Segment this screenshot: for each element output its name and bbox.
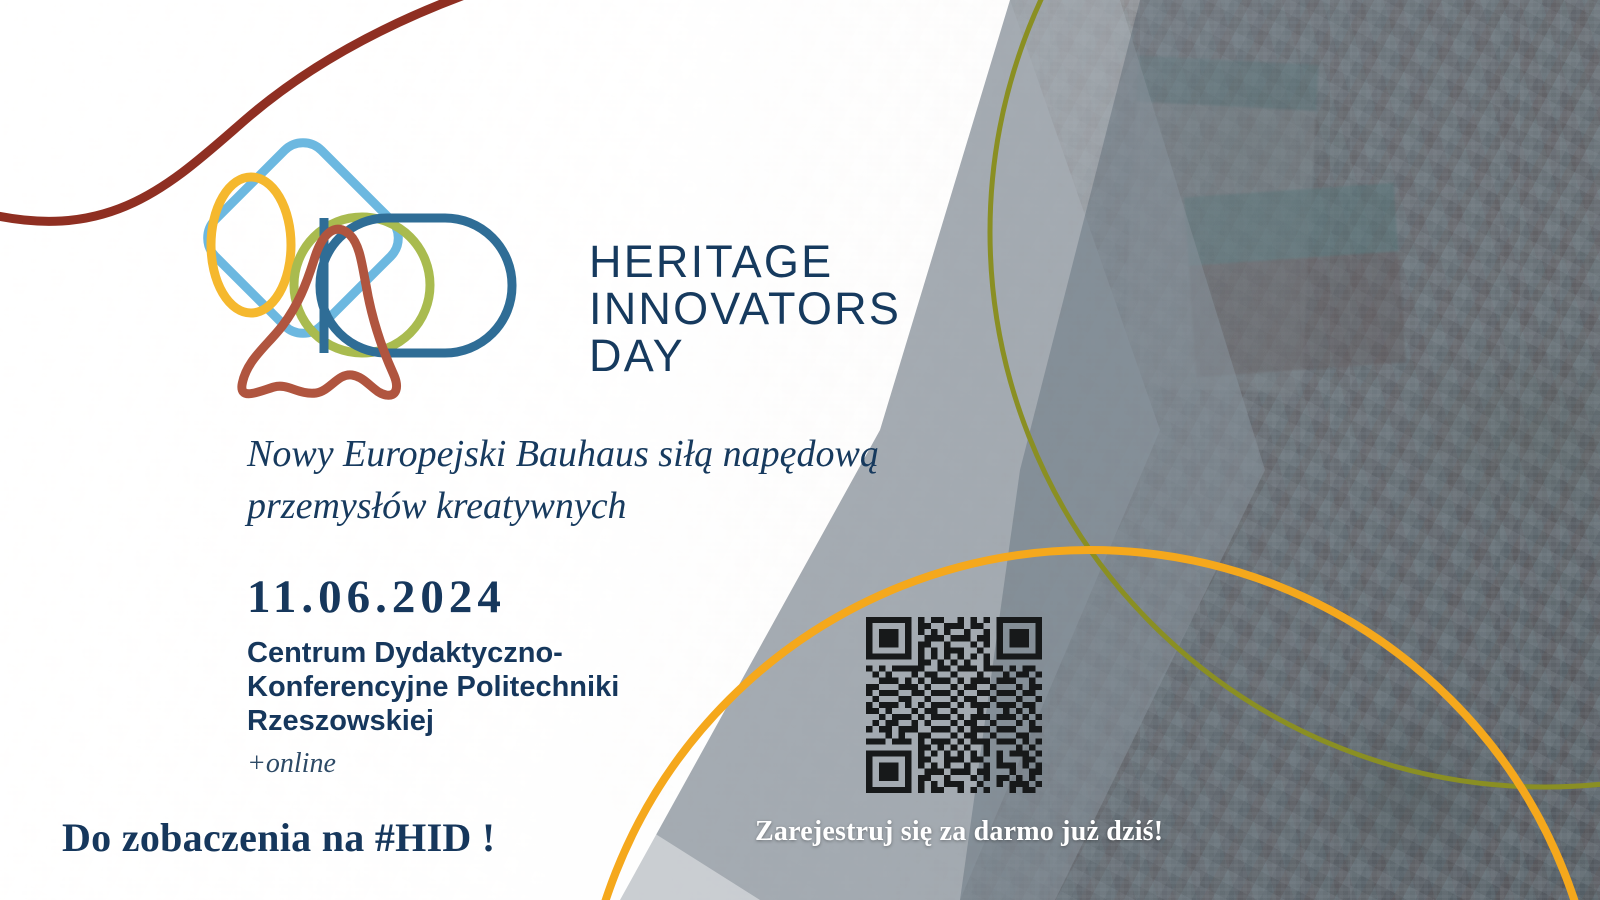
hid-monogram <box>190 125 550 400</box>
event-poster: HERITAGE INNOVATORS DAY Nowy Europejski … <box>0 0 1600 900</box>
online-note: +online <box>247 748 336 780</box>
event-subtitle: Nowy Europejski Bauhaus siłą napędową pr… <box>247 428 1007 532</box>
event-date: 11.06.2024 <box>247 570 506 624</box>
closing-line: Do zobaczenia na #HID ! <box>62 814 496 861</box>
logo-wordmark: HERITAGE INNOVATORS DAY <box>589 238 901 379</box>
qr-canvas[interactable] <box>866 617 1042 793</box>
registration-qr-code[interactable] <box>866 617 1042 793</box>
registration-cta: Zarejestruj się za darmo już dziś! <box>755 816 1163 848</box>
olive-circle <box>990 0 1600 787</box>
event-venue: Centrum Dydaktyczno- Konferencyjne Polit… <box>247 636 647 738</box>
